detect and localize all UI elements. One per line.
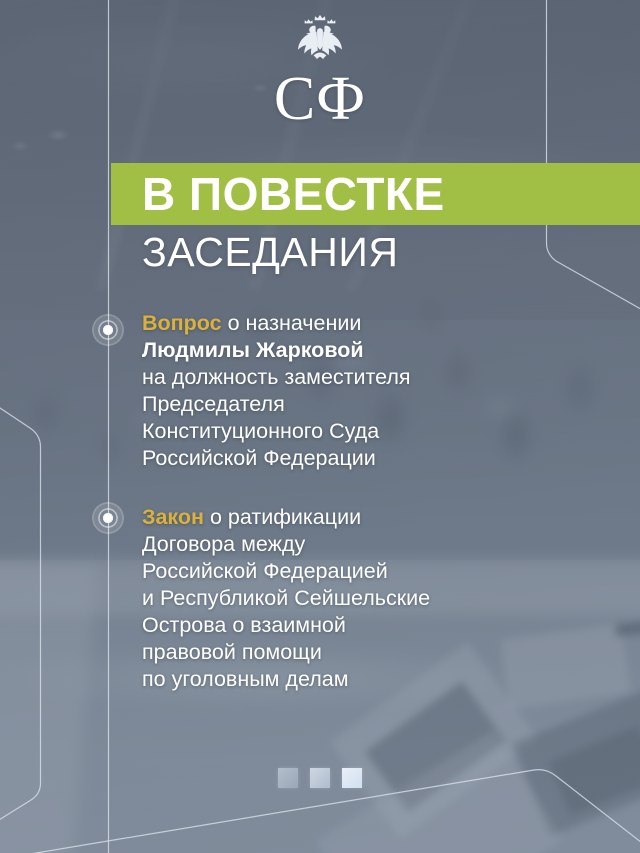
slide-indicator-dot-1[interactable] [278,768,298,788]
agenda-poster: СФ В ПОВЕСТКЕ ЗАСЕДАНИЯ Вопрос о назначе… [0,0,640,853]
agenda-item-line: Острова о взаимной [142,612,572,639]
agenda-item-line: Председателя [142,391,572,418]
slide-indicator-dot-2[interactable] [310,768,330,788]
agenda-item-keyword: Вопрос [142,311,222,335]
agenda-item-line: Российской Федерацией [142,558,572,585]
agenda-list: Вопрос о назначении Людмилы Жарковой на … [142,310,572,693]
agenda-item-line: Конституционного Суда [142,418,572,445]
agenda-bullet-marker [92,314,124,346]
agenda-item-line: о назначении [222,311,362,335]
agenda-item-line: Договора между [142,531,572,558]
agenda-item-keyword: Закон [142,505,204,529]
agenda-item: Закон о ратификации Договора между Росси… [142,504,572,693]
agenda-item-line: по уголовным делам [142,666,572,693]
agenda-item-line: Российской Федерации [142,445,572,472]
council-logo: СФ [0,14,640,130]
slide-indicator[interactable] [0,768,640,788]
agenda-item: Вопрос о назначении Людмилы Жарковой на … [142,310,572,472]
logo-monogram: СФ [274,68,366,130]
slide-indicator-dot-3[interactable] [342,768,362,788]
agenda-item-line: и Республикой Сейшельские [142,585,572,612]
agenda-item-line: на должность заместителя [142,364,572,391]
headline-subtitle: ЗАСЕДАНИЯ [142,232,398,273]
agenda-item-line: правовой помощи [142,639,572,666]
agenda-item-line: о ратификации [204,505,361,529]
double-headed-eagle-icon [292,14,348,66]
agenda-item-line: Людмилы Жарковой [142,337,572,364]
headline-band-text: В ПОВЕСТКЕ [111,171,445,217]
agenda-bullet-marker [92,502,124,534]
headline-band: В ПОВЕСТКЕ [111,163,640,225]
